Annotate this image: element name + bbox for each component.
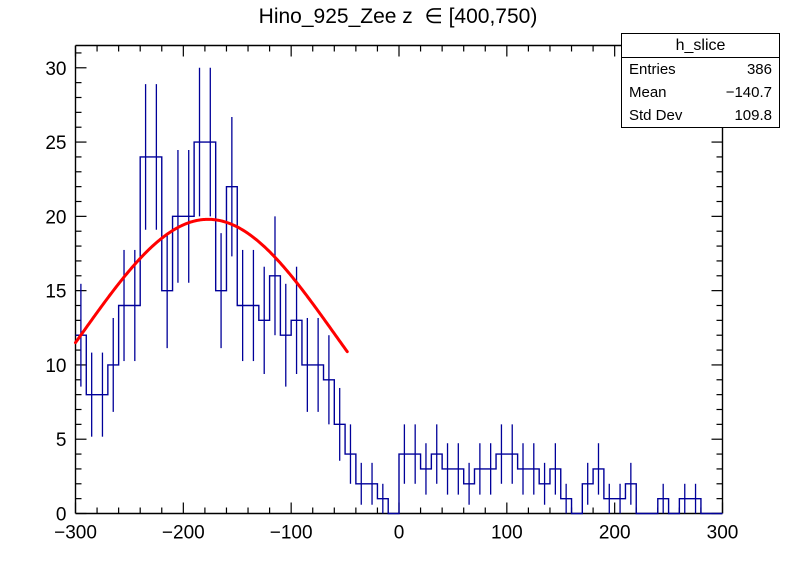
x-tick-label: −100 bbox=[270, 523, 313, 544]
statistics-box[interactable]: h_slice Entries 386 Mean −140.7 Std Dev … bbox=[621, 33, 780, 128]
y-tick-label: 20 bbox=[45, 207, 66, 228]
y-tick-label: 5 bbox=[56, 430, 67, 451]
x-tick-label: 100 bbox=[491, 523, 523, 544]
x-tick-label: −200 bbox=[162, 523, 205, 544]
y-tick-label: 0 bbox=[56, 505, 67, 526]
stats-value-stddev: 109.8 bbox=[734, 104, 772, 127]
stats-row-entries: Entries 386 bbox=[622, 58, 779, 81]
stats-label-stddev: Std Dev bbox=[629, 104, 682, 127]
x-tick-label: 200 bbox=[599, 523, 631, 544]
stats-title: h_slice bbox=[622, 34, 779, 58]
root-canvas: Hino_925_Zee z ∈ [400,750) −300−200−1000… bbox=[0, 0, 796, 572]
stats-value-mean: −140.7 bbox=[726, 81, 772, 104]
stats-row-mean: Mean −140.7 bbox=[622, 81, 779, 104]
stats-label-entries: Entries bbox=[629, 58, 676, 81]
y-tick-label: 25 bbox=[45, 133, 66, 154]
x-tick-label: 300 bbox=[707, 523, 739, 544]
y-tick-label: 30 bbox=[45, 59, 66, 80]
x-tick-label: −300 bbox=[54, 523, 97, 544]
stats-value-entries: 386 bbox=[747, 58, 772, 81]
x-tick-label: 0 bbox=[394, 523, 405, 544]
fit-curve bbox=[76, 219, 348, 351]
stats-label-mean: Mean bbox=[629, 81, 667, 104]
histogram-outline bbox=[76, 142, 723, 513]
stats-row-stddev: Std Dev 109.8 bbox=[622, 104, 779, 127]
y-tick-label: 15 bbox=[45, 282, 66, 303]
y-tick-label: 10 bbox=[45, 356, 66, 377]
